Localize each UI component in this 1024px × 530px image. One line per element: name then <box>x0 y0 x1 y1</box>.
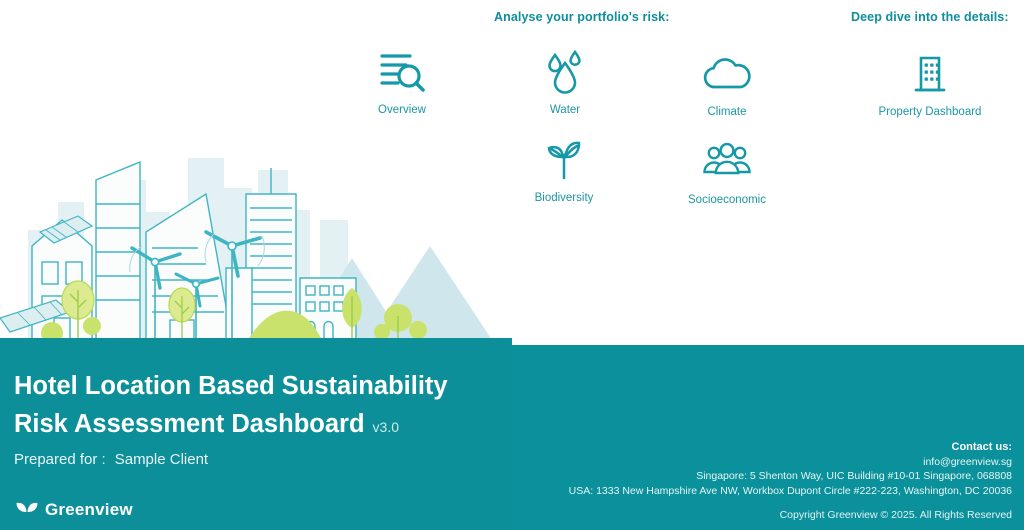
contact-label: Contact us: <box>569 440 1012 455</box>
page-title-line1: Hotel Location Based Sustainability <box>14 367 448 405</box>
page-title-line2-text: Risk Assessment Dashboard <box>14 410 365 438</box>
section-header-deep-dive: Deep dive into the details: <box>851 10 1009 24</box>
list-search-icon <box>327 46 477 98</box>
prepared-for-line: Prepared for :Sample Client <box>14 451 448 468</box>
nav-tile-label: Climate <box>652 106 802 118</box>
section-header-analyse: Analyse your portfolio's risk: <box>494 10 669 24</box>
nav-tile-climate[interactable]: Climate <box>652 48 802 118</box>
client-name: Sample Client <box>115 451 208 468</box>
brand-name: Greenview <box>45 500 133 520</box>
prepared-for-label: Prepared for : <box>14 451 106 468</box>
title-block: Hotel Location Based Sustainability Risk… <box>14 367 448 468</box>
leaf-mark-icon <box>16 500 38 520</box>
nav-tile-overview[interactable]: Overview <box>327 46 477 116</box>
contact-email[interactable]: info@greenview.sg <box>569 455 1012 470</box>
people-group-icon <box>652 136 802 188</box>
nav-tile-label: Property Dashboard <box>855 106 1005 118</box>
nav-tile-label: Water <box>490 104 640 116</box>
nav-tile-property-dashboard[interactable]: Property Dashboard <box>855 48 1005 118</box>
copyright-text: Copyright Greenview © 2025. All Rights R… <box>780 509 1012 521</box>
water-droplets-icon <box>490 46 640 98</box>
contact-address-singapore: Singapore: 5 Shenton Way, UIC Building #… <box>569 469 1012 484</box>
contact-block: Contact us: info@greenview.sg Singapore:… <box>569 440 1012 498</box>
title-banner: Hotel Location Based Sustainability Risk… <box>0 345 1024 530</box>
version-badge: v3.0 <box>373 419 399 435</box>
cloud-icon <box>652 48 802 100</box>
building-icon <box>855 48 1005 100</box>
page-title-line2: Risk Assessment Dashboardv3.0 <box>14 405 448 446</box>
nav-tile-water[interactable]: Water <box>490 46 640 116</box>
greenview-logo: Greenview <box>16 500 133 520</box>
nav-tile-label: Socioeconomic <box>652 194 802 206</box>
nav-tile-label: Overview <box>327 104 477 116</box>
dashboard-cover-page: Analyse your portfolio's risk: Deep dive… <box>0 0 1024 530</box>
sustainable-city-illustration <box>0 150 520 355</box>
contact-address-usa: USA: 1333 New Hampshire Ave NW, Workbox … <box>569 484 1012 499</box>
nav-tile-socioeconomic[interactable]: Socioeconomic <box>652 136 802 206</box>
